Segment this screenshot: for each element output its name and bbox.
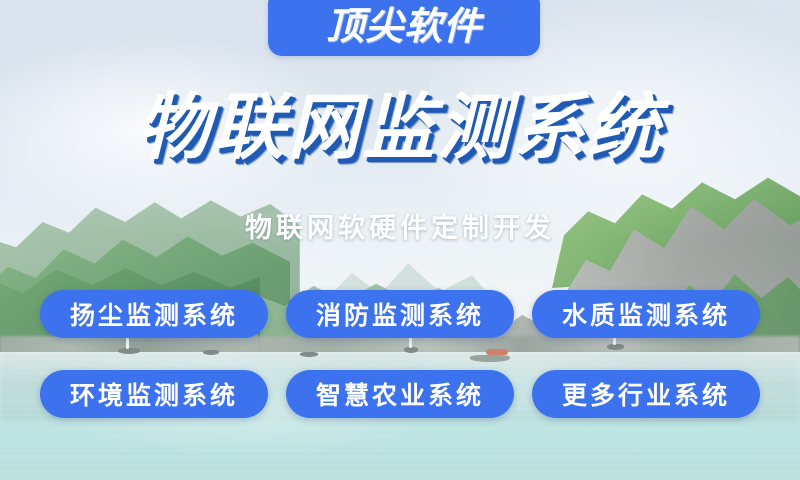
pill-more-industries[interactable]: 更多行业系统 [532,370,760,418]
banner-content: 顶尖软件 物联网监测系统 物联网软硬件定制开发 扬尘监测系统 消防监测系统 水质… [0,0,800,480]
pill-water-quality-monitoring[interactable]: 水质监测系统 [532,290,760,338]
service-pill-grid: 扬尘监测系统 消防监测系统 水质监测系统 环境监测系统 智慧农业系统 更多行业系… [40,290,760,418]
pill-environment-monitoring[interactable]: 环境监测系统 [40,370,268,418]
brand-name: 顶尖软件 [326,8,482,56]
pill-smart-agriculture[interactable]: 智慧农业系统 [286,370,514,418]
page-title: 物联网监测系统 [0,92,800,164]
page-subtitle: 物联网软硬件定制开发 [0,206,800,245]
pill-dust-monitoring[interactable]: 扬尘监测系统 [40,290,268,338]
pill-fire-monitoring[interactable]: 消防监测系统 [286,290,514,338]
brand-badge[interactable]: 顶尖软件 [268,0,540,56]
promo-banner: 顶尖软件 物联网监测系统 物联网软硬件定制开发 扬尘监测系统 消防监测系统 水质… [0,0,800,480]
